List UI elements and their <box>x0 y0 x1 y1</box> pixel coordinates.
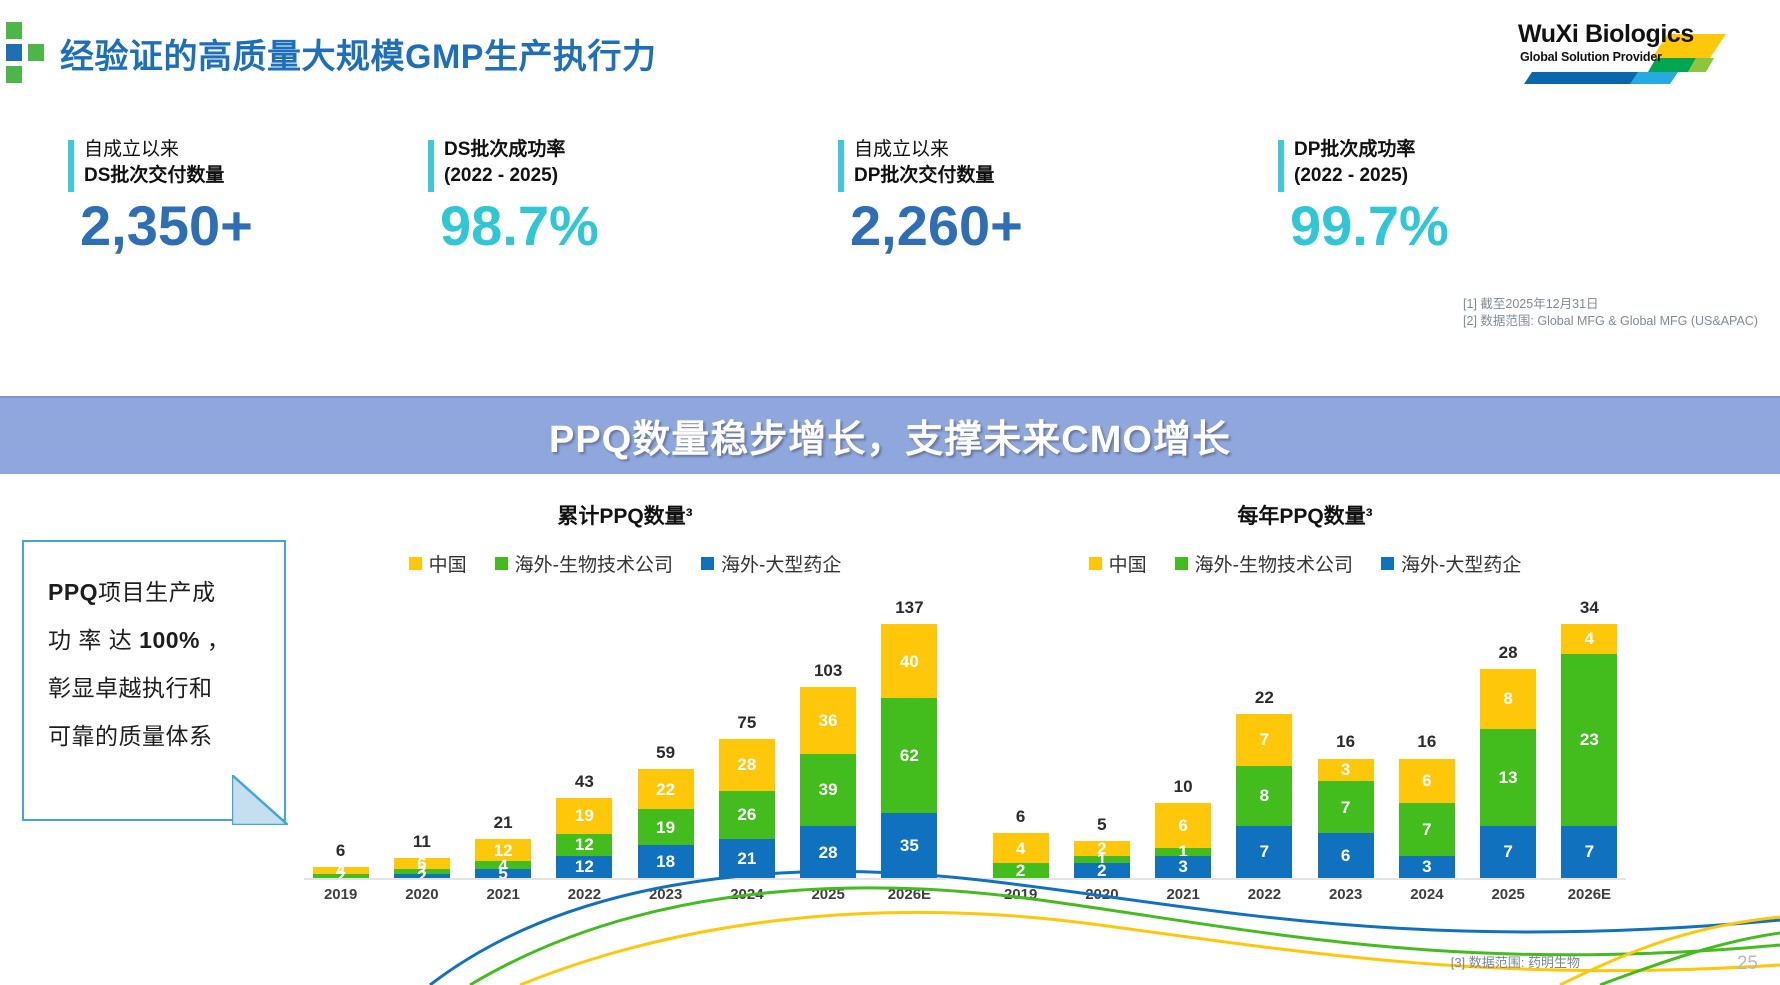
bar-column[interactable]: 211245 <box>475 592 531 878</box>
bar-segment-yellow[interactable]: 8 <box>1480 669 1536 729</box>
legend-label: 海外-大型药企 <box>1401 550 1521 577</box>
square-green-top <box>6 22 22 39</box>
section-banner-title: PPQ数量稳步增长，支撑未来CMO增长 <box>0 396 1780 474</box>
square-blue-middle <box>6 44 22 61</box>
x-axis-tick: 2025 <box>800 886 856 903</box>
legend-item-china[interactable]: 中国 <box>409 550 467 577</box>
legend-label: 中国 <box>429 550 467 577</box>
kpi-label-line2: DS批次交付数量 <box>84 163 224 189</box>
bar-column[interactable]: 16673 <box>1399 592 1455 878</box>
kpi-value: 98.7% <box>440 195 599 257</box>
page-title: 经验证的高质量大规模GMP生产执行力 <box>60 29 656 78</box>
legend-item-overseas-biotech[interactable]: 海外-生物技术公司 <box>1175 550 1353 577</box>
callout-line-3: 彰显卓越执行和 <box>48 664 264 712</box>
bar-column[interactable]: 642 <box>313 592 369 878</box>
bar-group: 642521210613227871637616673288137344237 <box>980 592 1630 878</box>
footnote-2: [2] 数据范围: Global MFG & Global MFG (US&AP… <box>1463 313 1758 330</box>
x-axis-tick: 2022 <box>556 886 612 903</box>
legend-swatch-blue-icon <box>1381 557 1394 570</box>
x-axis-labels: 20192020202120222023202420252026E <box>300 886 950 903</box>
bar-segment-blue[interactable]: 28 <box>800 826 856 878</box>
bar-segment-green[interactable]: 39 <box>800 754 856 826</box>
bar-segment-green[interactable]: 26 <box>719 791 775 839</box>
x-axis-line <box>984 878 1626 880</box>
bar-total-label: 6 <box>993 807 1049 827</box>
x-axis-tick: 2021 <box>475 886 531 903</box>
bar-segment-yellow[interactable]: 4 <box>1561 624 1617 654</box>
square-green-bottom <box>6 66 22 83</box>
bar-segment-green[interactable]: 12 <box>556 834 612 856</box>
callout-line2-c: ， <box>200 627 230 653</box>
square-green-right <box>28 44 44 61</box>
bar-segment-blue[interactable]: 7 <box>1561 826 1617 878</box>
legend-item-overseas-biotech[interactable]: 海外-生物技术公司 <box>495 550 673 577</box>
bar-segment-yellow[interactable]: 22 <box>638 769 694 810</box>
bar-segment-green[interactable]: 62 <box>881 698 937 813</box>
section-banner: PPQ数量稳步增长，支撑未来CMO增长 <box>0 396 1780 474</box>
kpi-value: 2,350+ <box>80 195 253 257</box>
bar-segment-blue[interactable]: 18 <box>638 845 694 878</box>
callout-line-1: PPQ项目生产成 <box>48 568 264 616</box>
bar-column[interactable]: 22787 <box>1236 592 1292 878</box>
footnotes-top: [1] 截至2025年12月31日 [2] 数据范围: Global MFG &… <box>1463 296 1758 330</box>
legend-swatch-green-icon <box>1175 557 1188 570</box>
legend-label: 中国 <box>1109 550 1147 577</box>
bar-total-label: 10 <box>1155 777 1211 797</box>
legend-swatch-blue-icon <box>701 557 714 570</box>
kpi-accent-bar <box>1278 140 1284 192</box>
bar-segment-green[interactable]: 13 <box>1480 729 1536 826</box>
bar-segment-yellow[interactable]: 6 <box>1399 759 1455 804</box>
bar-column[interactable]: 288137 <box>1480 592 1536 878</box>
legend-swatch-yellow-icon <box>409 557 422 570</box>
footnote-1: [1] 截至2025年12月31日 <box>1463 296 1758 313</box>
legend-label: 海外-生物技术公司 <box>515 550 673 577</box>
bar-column[interactable]: 75282621 <box>719 592 775 878</box>
legend-swatch-green-icon <box>495 557 508 570</box>
bar-total-label: 16 <box>1399 732 1455 752</box>
bar-column[interactable]: 16376 <box>1318 592 1374 878</box>
kpi-label-line2: (2022 - 2025) <box>444 163 565 189</box>
kpi-accent-bar <box>68 140 74 192</box>
x-axis-tick: 2026E <box>1561 886 1617 903</box>
chart-annual-ppq: 每年PPQ数量³ 中国 海外-生物技术公司 海外-大型药企 6425212106… <box>980 500 1630 940</box>
bar-segment-blue[interactable]: 6 <box>1318 833 1374 878</box>
callout-line-4: 可靠的质量体系 <box>48 712 264 760</box>
plot-area: 6421163221124543191212592219187528262110… <box>300 592 950 880</box>
x-axis-tick: 2023 <box>1318 886 1374 903</box>
kpi-value: 2,260+ <box>850 195 1023 257</box>
bar-column[interactable]: 642 <box>993 592 1049 878</box>
kpi-label-line1: 自成立以来 <box>854 137 994 163</box>
x-axis-tick: 2019 <box>313 886 369 903</box>
chart-cumulative-ppq: 累计PPQ数量³ 中国 海外-生物技术公司 海外-大型药企 6421163221… <box>300 500 950 940</box>
bar-column[interactable]: 59221918 <box>638 592 694 878</box>
bar-column[interactable]: 10613 <box>1155 592 1211 878</box>
legend-item-overseas-bigpharma[interactable]: 海外-大型药企 <box>1381 550 1521 577</box>
bar-total-label: 75 <box>719 713 775 733</box>
bar-segment-yellow[interactable]: 4 <box>993 833 1049 863</box>
chart-legend: 中国 海外-生物技术公司 海外-大型药企 <box>300 550 950 577</box>
kpi-label-line2: DP批次交付数量 <box>854 163 994 189</box>
x-axis-tick: 2021 <box>1155 886 1211 903</box>
kpi-label-line1: DP批次成功率 <box>1294 137 1415 163</box>
kpi-value: 99.7% <box>1290 195 1449 257</box>
callout-line2-pct: 100% <box>139 627 200 653</box>
legend-label: 海外-大型药企 <box>721 550 841 577</box>
bar-segment-blue[interactable]: 7 <box>1236 826 1292 878</box>
x-axis-tick: 2025 <box>1480 886 1536 903</box>
x-axis-tick: 2020 <box>394 886 450 903</box>
bar-total-label: 59 <box>638 743 694 763</box>
x-axis-tick: 2019 <box>993 886 1049 903</box>
bar-segment-yellow[interactable]: 7 <box>1236 714 1292 766</box>
bar-column[interactable]: 43191212 <box>556 592 612 878</box>
x-axis-tick: 2022 <box>1236 886 1292 903</box>
kpi-accent-bar <box>838 140 844 192</box>
bar-segment-blue[interactable]: 7 <box>1480 826 1536 878</box>
bar-total-label: 34 <box>1561 598 1617 618</box>
bar-column[interactable]: 11632 <box>394 592 450 878</box>
slide-root: 经验证的高质量大规模GMP生产执行力 WuXi Biologics Global… <box>0 0 1780 985</box>
bar-group: 6421163221124543191212592219187528262110… <box>300 592 950 878</box>
bar-total-label: 103 <box>800 661 856 681</box>
bar-segment-green[interactable]: 7 <box>1399 803 1455 855</box>
bar-total-label: 11 <box>394 832 450 852</box>
bar-total-label: 16 <box>1318 732 1374 752</box>
bar-segment-green[interactable]: 19 <box>638 809 694 844</box>
bar-segment-blue[interactable]: 3 <box>1155 856 1211 878</box>
plot-area: 642521210613227871637616673288137344237 <box>980 592 1630 880</box>
x-axis-labels: 20192020202120222023202420252026E <box>980 886 1630 903</box>
bar-column[interactable]: 103363928 <box>800 592 856 878</box>
kpi-label-line1: DS批次成功率 <box>444 137 565 163</box>
bar-segment-yellow[interactable]: 19 <box>556 798 612 833</box>
chart-title: 每年PPQ数量³ <box>980 500 1630 530</box>
bar-segment-blue[interactable]: 3 <box>1399 856 1455 878</box>
footnote-3: [3] 数据范围: 药明生物 <box>1451 952 1580 971</box>
bar-total-label: 6 <box>313 841 369 861</box>
bar-segment-green[interactable]: 2 <box>993 863 1049 878</box>
bar-column[interactable]: 137406235 <box>881 592 937 878</box>
logo-tagline: Global Solution Provider <box>1520 50 1662 64</box>
callout-line2-a: 功 率 达 <box>48 627 139 653</box>
bar-segment-green[interactable]: 23 <box>1561 654 1617 826</box>
x-axis-line <box>304 878 946 880</box>
bar-segment-green[interactable]: 7 <box>1318 781 1374 833</box>
legend-item-china[interactable]: 中国 <box>1089 550 1147 577</box>
bar-segment-blue[interactable]: 5 <box>475 869 531 878</box>
kpi-label-line1: 自成立以来 <box>84 137 224 163</box>
bar-column[interactable]: 5212 <box>1074 592 1130 878</box>
bar-segment-blue[interactable]: 12 <box>556 856 612 878</box>
wuxi-biologics-logo: WuXi Biologics Global Solution Provider <box>1518 18 1758 86</box>
x-axis-tick: 2020 <box>1074 886 1130 903</box>
bar-total-label: 21 <box>475 813 531 833</box>
kpi-label-line2: (2022 - 2025) <box>1294 163 1415 189</box>
bar-segment-blue[interactable]: 2 <box>1074 863 1130 878</box>
bar-total-label: 5 <box>1074 815 1130 835</box>
chart-title: 累计PPQ数量³ <box>300 500 950 530</box>
bar-segment-green[interactable]: 8 <box>1236 766 1292 826</box>
bar-segment-yellow[interactable]: 28 <box>719 739 775 791</box>
bar-segment-yellow[interactable]: 40 <box>881 624 937 698</box>
legend-label: 海外-生物技术公司 <box>1195 550 1353 577</box>
page-number: 25 <box>1737 953 1758 975</box>
bar-segment-green[interactable]: 1 <box>1155 848 1211 855</box>
bar-column[interactable]: 344237 <box>1561 592 1617 878</box>
callout-ppq-bold: PPQ <box>48 579 98 605</box>
logo-wordmark: WuXi Biologics <box>1518 20 1694 49</box>
x-axis-tick: 2024 <box>1399 886 1455 903</box>
callout-line-2: 功 率 达 100% ， <box>48 616 264 664</box>
bar-total-label: 43 <box>556 772 612 792</box>
logo-squares-decoration <box>6 22 48 84</box>
bar-segment-yellow[interactable]: 36 <box>800 687 856 754</box>
callout-fold-corner-icon <box>232 775 288 825</box>
callout-line1-rest: 项目生产成 <box>98 579 216 605</box>
bar-total-label: 22 <box>1236 688 1292 708</box>
kpi-accent-bar <box>428 140 434 192</box>
x-axis-tick: 2023 <box>638 886 694 903</box>
legend-swatch-yellow-icon <box>1089 557 1102 570</box>
legend-item-overseas-bigpharma[interactable]: 海外-大型药企 <box>701 550 841 577</box>
x-axis-tick: 2024 <box>719 886 775 903</box>
bar-total-label: 137 <box>881 598 937 618</box>
chart-legend: 中国 海外-生物技术公司 海外-大型药企 <box>980 550 1630 577</box>
bar-segment-yellow[interactable]: 3 <box>1318 759 1374 781</box>
bar-total-label: 28 <box>1480 643 1536 663</box>
x-axis-tick: 2026E <box>881 886 937 903</box>
bar-segment-blue[interactable]: 21 <box>719 839 775 878</box>
bar-segment-blue[interactable]: 35 <box>881 813 937 878</box>
